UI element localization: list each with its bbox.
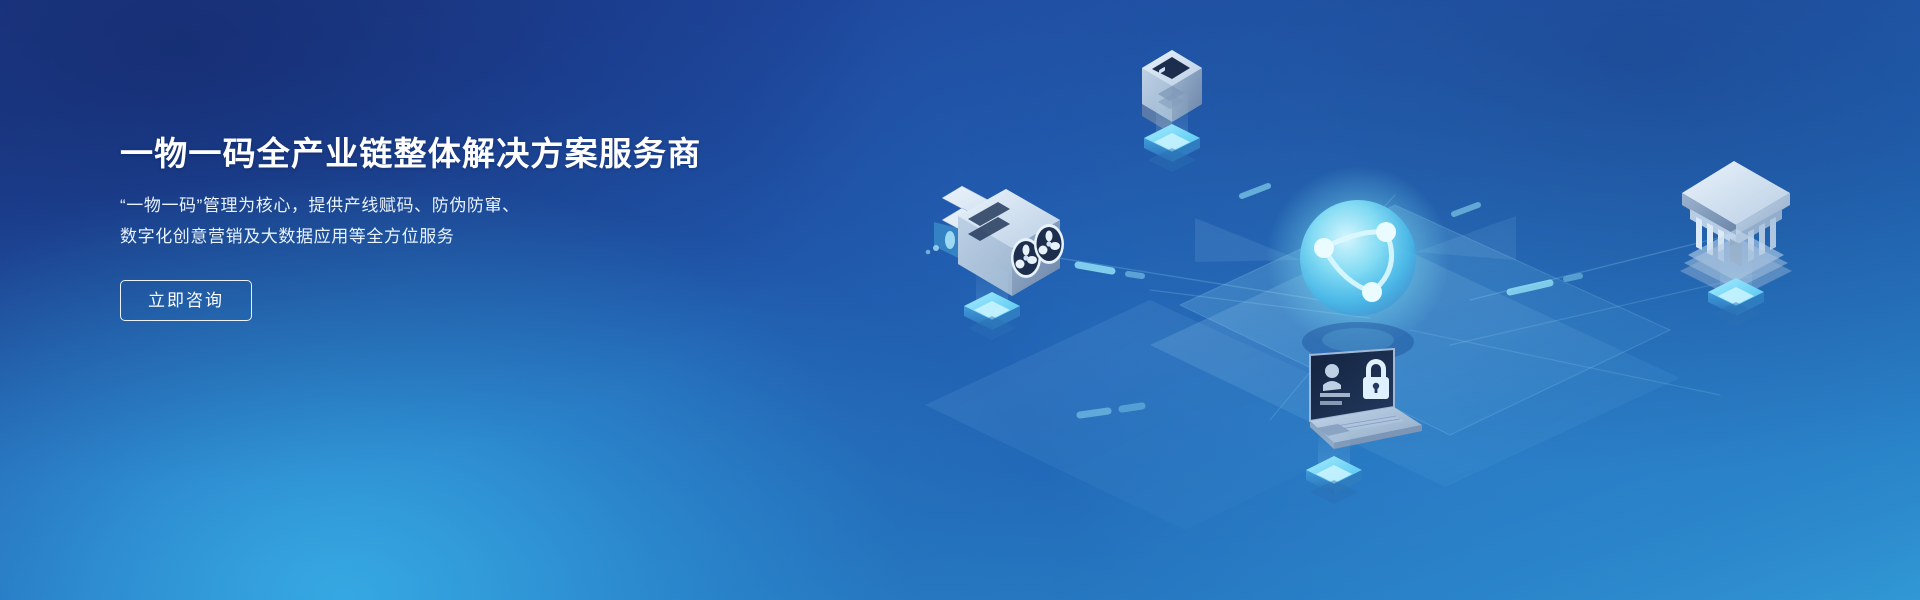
isometric-illustration [850, 0, 1920, 600]
hero-subtitle: “一物一码”管理为核心，提供产线赋码、防伪防窜、 数字化创意营销及大数据应用等全… [120, 190, 840, 252]
page-title: 一物一码全产业链整体解决方案服务商 [120, 132, 840, 176]
hero-banner: 一物一码全产业链整体解决方案服务商 “一物一码”管理为核心，提供产线赋码、防伪防… [0, 0, 1920, 600]
hero-copy-block: 一物一码全产业链整体解决方案服务商 “一物一码”管理为核心，提供产线赋码、防伪防… [120, 132, 840, 321]
consult-now-button[interactable]: 立即咨询 [120, 280, 252, 321]
signal-emitter-icon [926, 222, 958, 258]
subtitle-line-2: 数字化创意营销及大数据应用等全方位服务 [120, 221, 840, 252]
subtitle-line-1: “一物一码”管理为核心，提供产线赋码、防伪防窜、 [120, 190, 840, 221]
